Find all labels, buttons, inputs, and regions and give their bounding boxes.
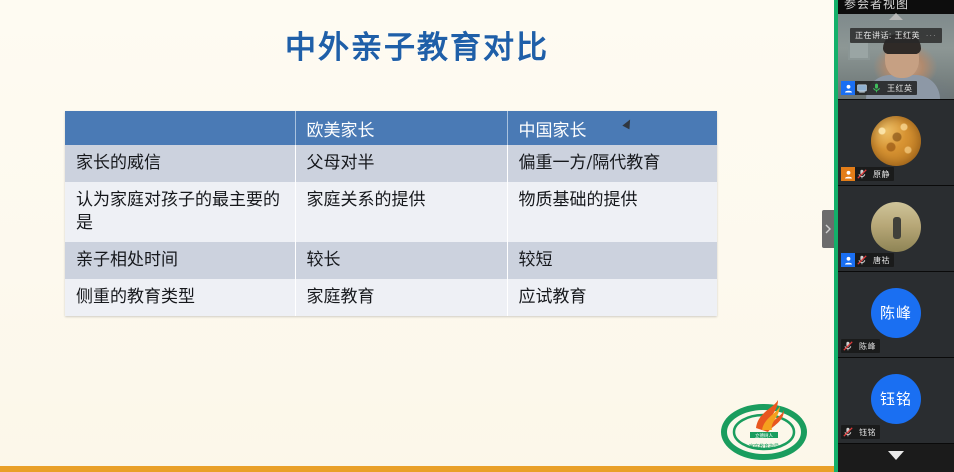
participant-avatar — [871, 116, 921, 166]
table-header-row: 欧美家长 中国家长 — [65, 111, 717, 145]
participant-tile[interactable]: 钰铭 钰铭 — [838, 358, 954, 444]
table-cell-china: 应试教育 — [507, 279, 717, 316]
meeting-screen-share-window: 中外亲子教育对比 欧美家长 中国家长 家长的威信 父母对半 偏重一方/隔代教育 — [0, 0, 954, 472]
school-emblem-logo: 立德树人 家庭教育指导 — [718, 392, 810, 462]
participant-name: 陈峰 — [855, 341, 876, 352]
participant-video-filmstrip[interactable]: 参会者视图 正在讲话: 王红英 ··· — [838, 0, 954, 472]
microphone-muted-icon — [841, 425, 855, 439]
participant-name-badge: 陈峰 — [841, 339, 880, 353]
table-cell-label: 亲子相处时间 — [65, 242, 295, 279]
microphone-icon — [869, 81, 883, 95]
table-cell-label: 家长的威信 — [65, 145, 295, 182]
scroll-down-button[interactable] — [887, 448, 905, 466]
participant-avatar: 钰铭 — [871, 374, 921, 424]
table-cell-china: 偏重一方/隔代教育 — [507, 145, 717, 182]
participant-name: 王红英 — [883, 83, 913, 94]
chevron-up-icon — [888, 12, 904, 21]
participant-avatar — [871, 202, 921, 252]
svg-text:立德树人: 立德树人 — [755, 432, 773, 439]
participant-name-badge: 原静 — [841, 167, 894, 181]
table-cell-label: 认为家庭对孩子的最主要的是 — [65, 182, 295, 242]
table-cell-west: 家庭教育 — [295, 279, 507, 316]
host-icon — [841, 81, 855, 95]
table-row: 家长的威信 父母对半 偏重一方/隔代教育 — [65, 145, 717, 182]
microphone-muted-icon — [855, 253, 869, 267]
chevron-right-icon — [825, 224, 831, 234]
scroll-up-button[interactable] — [888, 8, 904, 26]
table-header-cell-blank — [65, 111, 295, 145]
slide-bottom-accent-bar — [0, 466, 834, 472]
table-cell-china: 物质基础的提供 — [507, 182, 717, 242]
comparison-table: 欧美家长 中国家长 家长的威信 父母对半 偏重一方/隔代教育 认为家庭对孩子的最… — [65, 111, 717, 316]
participant-name-badge: 王红英 — [841, 81, 917, 95]
chevron-down-icon — [887, 450, 905, 461]
active-speaker-text: 正在讲话: 王红英 — [855, 31, 920, 40]
participant-name: 原静 — [869, 169, 890, 180]
table-cell-west: 父母对半 — [295, 145, 507, 182]
participant-avatar: 陈峰 — [871, 288, 921, 338]
microphone-muted-icon — [841, 339, 855, 353]
participant-tile[interactable]: 唐祜 — [838, 186, 954, 272]
participant-tile[interactable]: 陈峰 陈峰 — [838, 272, 954, 358]
table-header-cell-china: 中国家长 — [507, 111, 717, 145]
participant-name: 唐祜 — [869, 255, 890, 266]
speaking-dots: ··· — [926, 31, 937, 40]
table-cell-label: 侧重的教育类型 — [65, 279, 295, 316]
table-cell-west: 较长 — [295, 242, 507, 279]
slide-title: 中外亲子教育对比 — [0, 22, 834, 67]
host-icon — [841, 253, 855, 267]
screen-share-border — [834, 0, 838, 472]
svg-text:家庭教育指导: 家庭教育指导 — [749, 443, 779, 450]
table-cell-west: 家庭关系的提供 — [295, 182, 507, 242]
active-speaker-banner: 正在讲话: 王红英 ··· — [850, 28, 942, 43]
host-icon — [841, 167, 855, 181]
participant-tile[interactable]: 正在讲话: 王红英 ··· — [838, 14, 954, 100]
participant-name-badge: 钰铭 — [841, 425, 880, 439]
table-header-cell-west: 欧美家长 — [295, 111, 507, 145]
table-row: 侧重的教育类型 家庭教育 应试教育 — [65, 279, 717, 316]
collapse-video-panel-button[interactable] — [822, 210, 834, 248]
participant-tile[interactable]: 原静 — [838, 100, 954, 186]
participant-name: 钰铭 — [855, 427, 876, 438]
table-row: 亲子相处时间 较长 较短 — [65, 242, 717, 279]
table-cell-china: 较短 — [507, 242, 717, 279]
participant-name-badge: 唐祜 — [841, 253, 894, 267]
shared-slide-region: 中外亲子教育对比 欧美家长 中国家长 家长的威信 父母对半 偏重一方/隔代教育 — [0, 0, 834, 472]
screen-share-icon — [855, 81, 869, 95]
microphone-muted-icon — [855, 167, 869, 181]
background-wall-frame — [848, 40, 870, 60]
table-row: 认为家庭对孩子的最主要的是 家庭关系的提供 物质基础的提供 — [65, 182, 717, 242]
